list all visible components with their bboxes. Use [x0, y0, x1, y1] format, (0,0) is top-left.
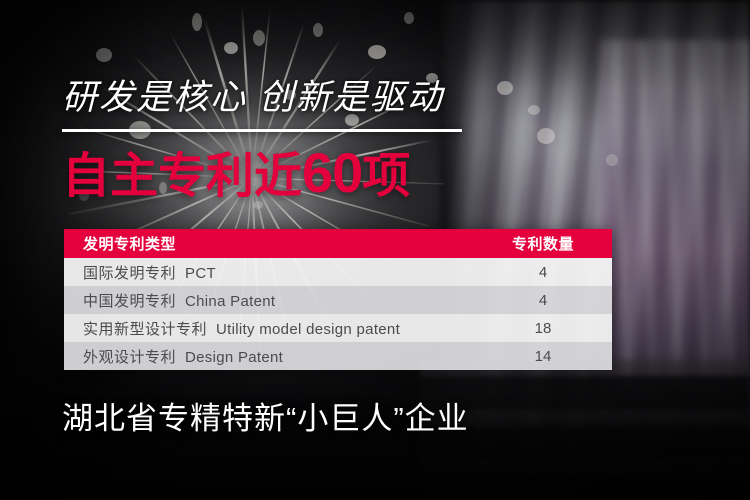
cell-patent-count: 4 [482, 258, 612, 286]
patent-type-en: China Patent [185, 293, 275, 310]
cell-patent-count: 18 [482, 314, 612, 342]
table-header-row: 发明专利类型 专利数量 [64, 229, 612, 258]
patent-type-zh: 国际发明专利 [83, 265, 176, 282]
patent-table-body: 国际发明专利PCT 4 中国发明专利China Patent 4 实用新型设计专… [64, 258, 612, 370]
cell-patent-type: 国际发明专利PCT [64, 258, 482, 286]
headline-main-prefix: 自主专利近 [62, 150, 302, 203]
cell-patent-count: 14 [482, 342, 612, 370]
cell-patent-count: 4 [482, 286, 612, 314]
headline-divider [62, 129, 462, 132]
patent-poster: 研发是核心 创新是驱动 自主专利近60项 发明专利类型 专利数量 国际发明专利P… [0, 0, 750, 500]
cell-patent-type: 外观设计专利Design Patent [64, 342, 482, 370]
column-header-count: 专利数量 [482, 229, 612, 258]
table-row: 国际发明专利PCT 4 [64, 258, 612, 286]
table-row: 中国发明专利China Patent 4 [64, 286, 612, 314]
patent-type-zh: 外观设计专利 [83, 349, 176, 366]
patent-type-en: Utility model design patent [216, 321, 400, 338]
headline-main-suffix: 项 [362, 150, 410, 203]
patent-type-zh: 实用新型设计专利 [83, 321, 207, 338]
cell-patent-type: 实用新型设计专利Utility model design patent [64, 314, 482, 342]
patent-type-en: PCT [185, 265, 216, 282]
patent-table: 发明专利类型 专利数量 国际发明专利PCT 4 中国发明专利China Pate… [64, 229, 612, 370]
table-row: 实用新型设计专利Utility model design patent 18 [64, 314, 612, 342]
patent-table-header: 发明专利类型 专利数量 [64, 229, 612, 258]
poster-content: 研发是核心 创新是驱动 自主专利近60项 发明专利类型 专利数量 国际发明专利P… [0, 0, 750, 500]
cell-patent-type: 中国发明专利China Patent [64, 286, 482, 314]
patent-type-zh: 中国发明专利 [83, 293, 176, 310]
column-header-type: 发明专利类型 [64, 229, 482, 258]
footer-tagline: 湖北省专精特新“小巨人”企业 [62, 403, 469, 434]
headline-main-number: 60 [302, 141, 362, 204]
table-row: 外观设计专利Design Patent 14 [64, 342, 612, 370]
patent-type-en: Design Patent [185, 349, 283, 366]
headline-top: 研发是核心 创新是驱动 [62, 80, 444, 115]
headline-main: 自主专利近60项 [62, 145, 410, 201]
